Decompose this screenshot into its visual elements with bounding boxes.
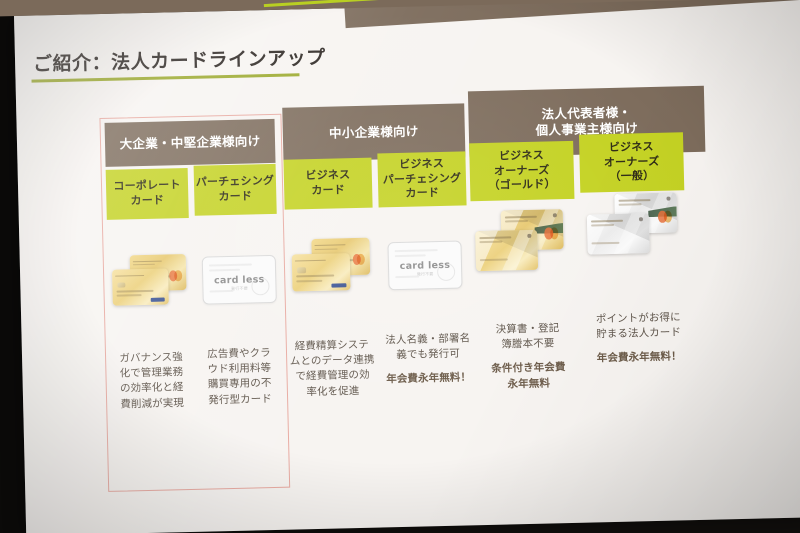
card-name-cell-business-purchasing[interactable]: ビジネス パーチェシング カード xyxy=(377,151,466,207)
highlight-owners-standard: 年会費永年無料！ xyxy=(584,350,694,368)
card-name-purchasing-line1: パーチェシング xyxy=(196,174,275,191)
silver-facet-card-pair xyxy=(580,184,693,301)
gold-facet-card-pair xyxy=(470,195,579,311)
card-name-business-line1: ビジネス xyxy=(305,168,350,184)
card-less-placeholder-icon: card less 発行不要 xyxy=(387,241,462,291)
card-name-owners-standard-line3: （一般） xyxy=(609,169,654,185)
card-name-cell-corporate[interactable]: コーポレート カード xyxy=(106,168,189,220)
segment-header-large-enterprise: 大企業・中堅企業様向け xyxy=(105,119,276,167)
card-name-corporate-line1: コーポレート xyxy=(113,178,181,194)
card-name-corporate-line2: カード xyxy=(130,194,164,210)
segment-header-large-enterprise-label: 大企業・中堅企業様向け xyxy=(119,133,260,152)
description-owners-standard: ポイントがお得に貯まる法人カード 年会費永年無料！ xyxy=(583,310,694,367)
card-artwork-purchasing: card less 発行不要 xyxy=(195,224,284,336)
credit-card-gold-front-icon xyxy=(292,253,351,291)
description-business: 経費精算システムとのデータ連携で経費管理の効率化を促進 xyxy=(286,338,379,401)
gold-card-pair-corporate xyxy=(107,228,196,340)
card-name-business-purchasing-line3: カード xyxy=(405,186,439,202)
description-corporate: ガバナンス強化で管理業務の効率化と経費削減が実現 xyxy=(108,350,195,413)
photo-of-projected-slide: ご紹介：法人カードラインアップ 大企業・中堅企業様向け 中小企業様向け 法人代表… xyxy=(0,0,800,533)
card-less-placeholder-icon: card less 発行不要 xyxy=(202,255,277,305)
card-name-owners-gold-line1: ビジネス xyxy=(499,148,544,164)
segment-header-sme-label: 中小企業様向け xyxy=(329,124,419,142)
card-name-business-purchasing-line1: ビジネス xyxy=(399,157,444,173)
description-owners-standard-text: ポイントがお得に貯まる法人カード xyxy=(583,310,694,343)
credit-card-gold-front-icon xyxy=(112,268,169,305)
card-artwork-business xyxy=(285,216,378,328)
description-business-purchasing-text: 法人名義・部署名義でも発行可 xyxy=(380,331,477,364)
card-name-cell-business[interactable]: ビジネス カード xyxy=(283,158,372,210)
description-corporate-text: ガバナンス強化で管理業務の効率化と経費削減が実現 xyxy=(108,350,195,413)
description-purchasing-text: 広告費やクラウド利用料等購買専用の不発行型カード xyxy=(196,346,283,409)
card-name-cell-purchasing[interactable]: パーチェシング カード xyxy=(194,164,277,216)
card-name-cell-owners-gold[interactable]: ビジネス オーナーズ （ゴールド） xyxy=(469,141,574,201)
card-artwork-owners-gold xyxy=(470,195,579,311)
highlight-business-purchasing: 年会費永年無料！ xyxy=(381,371,477,388)
credit-card-gold-facet-front-icon xyxy=(475,230,538,271)
credit-card-silver-front-icon xyxy=(587,213,650,254)
card-lineup-table: 大企業・中堅企業様向け 中小企業様向け 法人代表者様・ 個人事業主様向け コーポ… xyxy=(82,73,731,488)
slide-surface: ご紹介：法人カードラインアップ 大企業・中堅企業様向け 中小企業様向け 法人代表… xyxy=(14,0,800,533)
highlight-owners-gold: 条件付き年会費永年無料 xyxy=(480,360,577,393)
card-name-owners-standard-line1: ビジネス xyxy=(609,140,654,156)
card-name-owners-gold-line3: （ゴールド） xyxy=(488,178,556,194)
description-business-text: 経費精算システムとのデータ連携で経費管理の効率化を促進 xyxy=(286,338,379,401)
card-name-purchasing-line2: カード xyxy=(218,189,252,205)
card-artwork-business-purchasing: card less 発行不要 xyxy=(379,209,472,321)
gold-card-pair-business xyxy=(285,216,378,328)
slide-master-top-band-right xyxy=(344,0,800,28)
card-artwork-owners-standard xyxy=(580,184,693,301)
description-owners-gold: 決算書・登記簿謄本不要 条件付き年会費永年無料 xyxy=(479,321,577,393)
description-business-purchasing: 法人名義・部署名義でも発行可 年会費永年無料！ xyxy=(380,331,477,388)
description-purchasing: 広告費やクラウド利用料等購買専用の不発行型カード xyxy=(196,346,283,409)
card-name-business-line2: カード xyxy=(311,183,345,199)
card-artwork-corporate xyxy=(107,228,196,340)
page-title: ご紹介：法人カードラインアップ xyxy=(33,43,326,77)
description-owners-gold-text: 決算書・登記簿謄本不要 xyxy=(479,321,576,354)
card-name-business-purchasing-line2: パーチェシング xyxy=(383,171,462,188)
